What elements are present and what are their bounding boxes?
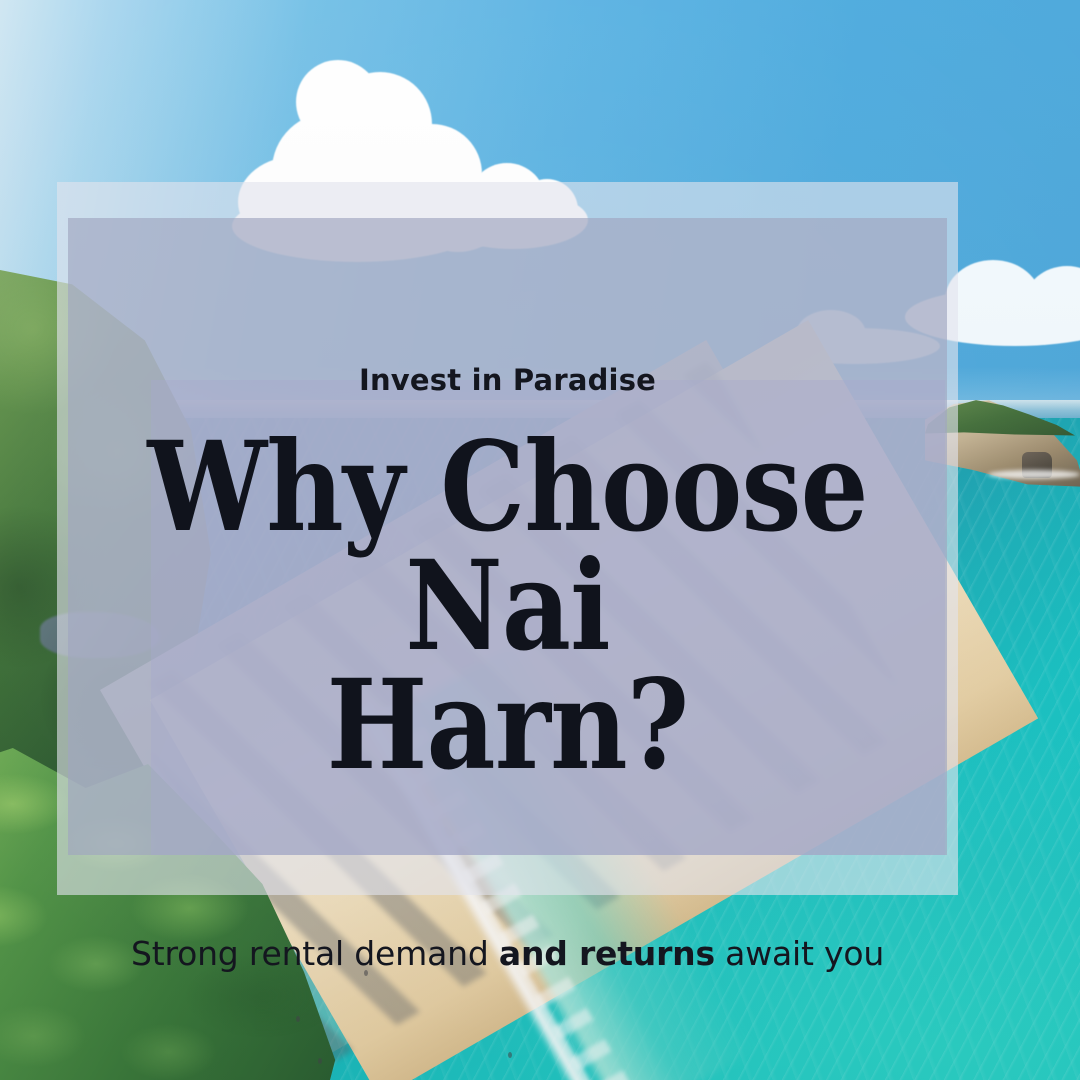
beach-figure <box>318 1058 322 1064</box>
subtitle-lead-text: Strong rental demand <box>131 934 499 973</box>
subtitle: Strong rental demand and returns await y… <box>131 934 884 974</box>
poster-canvas: Invest in Paradise Why Choose Nai Harn? … <box>0 0 1080 1080</box>
eyebrow-label: Invest in Paradise <box>359 366 656 395</box>
subtitle-tail-text: await you <box>715 934 884 973</box>
text-content-block: Invest in Paradise Why Choose Nai Harn? … <box>68 218 947 855</box>
subtitle-emphasis-text: and returns <box>499 934 715 973</box>
page-title: Why Choose Nai Harn? <box>130 428 886 785</box>
headland-surf-foam <box>988 470 1080 479</box>
beach-figure <box>296 1016 300 1022</box>
beach-figure <box>508 1052 512 1058</box>
